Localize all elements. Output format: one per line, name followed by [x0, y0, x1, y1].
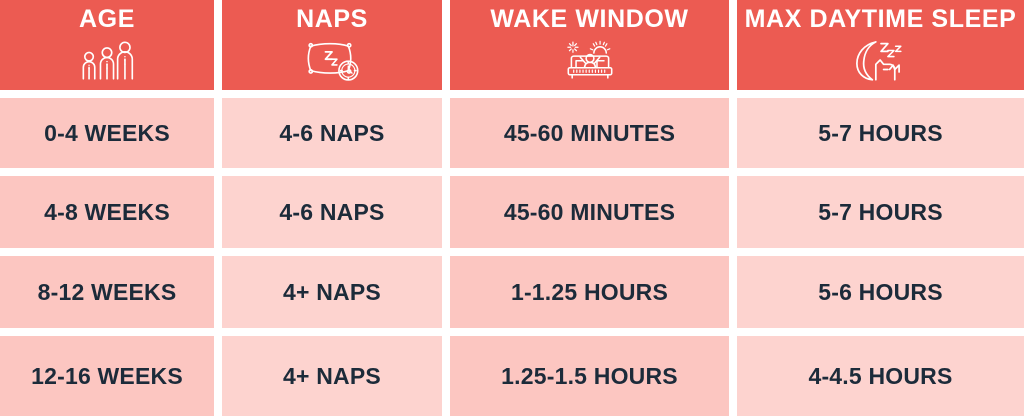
cell-value: 4-8 WEEKS [44, 201, 170, 224]
column-header-label: AGE [79, 7, 135, 32]
cell-value: 5-7 HOURS [818, 201, 943, 224]
cell-value: 45-60 MINUTES [504, 122, 675, 145]
cell-value: 1-1.25 HOURS [511, 281, 668, 304]
person-waking-in-bed-sun-icon [559, 37, 621, 83]
table-cell-max-daytime-sleep: 5-6 HOURS [737, 256, 1024, 336]
cell-value: 4-4.5 HOURS [808, 365, 952, 388]
column-header-max-daytime-sleep: MAX DAYTIME SLEEP [737, 0, 1024, 98]
table-cell-naps: 4-6 NAPS [222, 176, 450, 256]
table-cell-age: 4-8 WEEKS [0, 176, 222, 256]
crescent-moon-zzz-icon [850, 37, 912, 83]
cell-value: 45-60 MINUTES [504, 201, 675, 224]
cell-value: 1.25-1.5 HOURS [501, 365, 678, 388]
table-cell-wake-window: 45-60 MINUTES [450, 176, 737, 256]
table-cell-naps: 4-6 NAPS [222, 98, 450, 176]
column-header-age: AGE [0, 0, 222, 98]
cell-value: 4-6 NAPS [279, 201, 384, 224]
column-header-label: WAKE WINDOW [490, 7, 688, 32]
cell-value: 12-16 WEEKS [31, 365, 183, 388]
column-header-label: NAPS [296, 7, 368, 32]
cell-value: 0-4 WEEKS [44, 122, 170, 145]
column-header-label: MAX DAYTIME SLEEP [745, 7, 1017, 32]
table-cell-max-daytime-sleep: 5-7 HOURS [737, 98, 1024, 176]
three-people-icon [76, 37, 138, 83]
cell-value: 4+ NAPS [283, 365, 381, 388]
table-cell-max-daytime-sleep: 5-7 HOURS [737, 176, 1024, 256]
table-cell-age: 12-16 WEEKS [0, 336, 222, 416]
cell-value: 8-12 WEEKS [38, 281, 177, 304]
cell-value: 4+ NAPS [283, 281, 381, 304]
table-cell-age: 8-12 WEEKS [0, 256, 222, 336]
cell-value: 5-6 HOURS [818, 281, 943, 304]
baby-sleep-schedule-table: AGE [0, 0, 1024, 420]
table-cell-wake-window: 45-60 MINUTES [450, 98, 737, 176]
table-cell-max-daytime-sleep: 4-4.5 HOURS [737, 336, 1024, 416]
table-cell-wake-window: 1.25-1.5 HOURS [450, 336, 737, 416]
column-header-wake-window: WAKE WINDOW [450, 0, 737, 98]
cell-value: 5-7 HOURS [818, 122, 943, 145]
table-cell-naps: 4+ NAPS [222, 336, 450, 416]
cell-value: 4-6 NAPS [279, 122, 384, 145]
table-cell-wake-window: 1-1.25 HOURS [450, 256, 737, 336]
table-cell-age: 0-4 WEEKS [0, 98, 222, 176]
pillow-clock-zzz-icon [301, 37, 363, 83]
column-header-naps: NAPS [222, 0, 450, 98]
table-cell-naps: 4+ NAPS [222, 256, 450, 336]
